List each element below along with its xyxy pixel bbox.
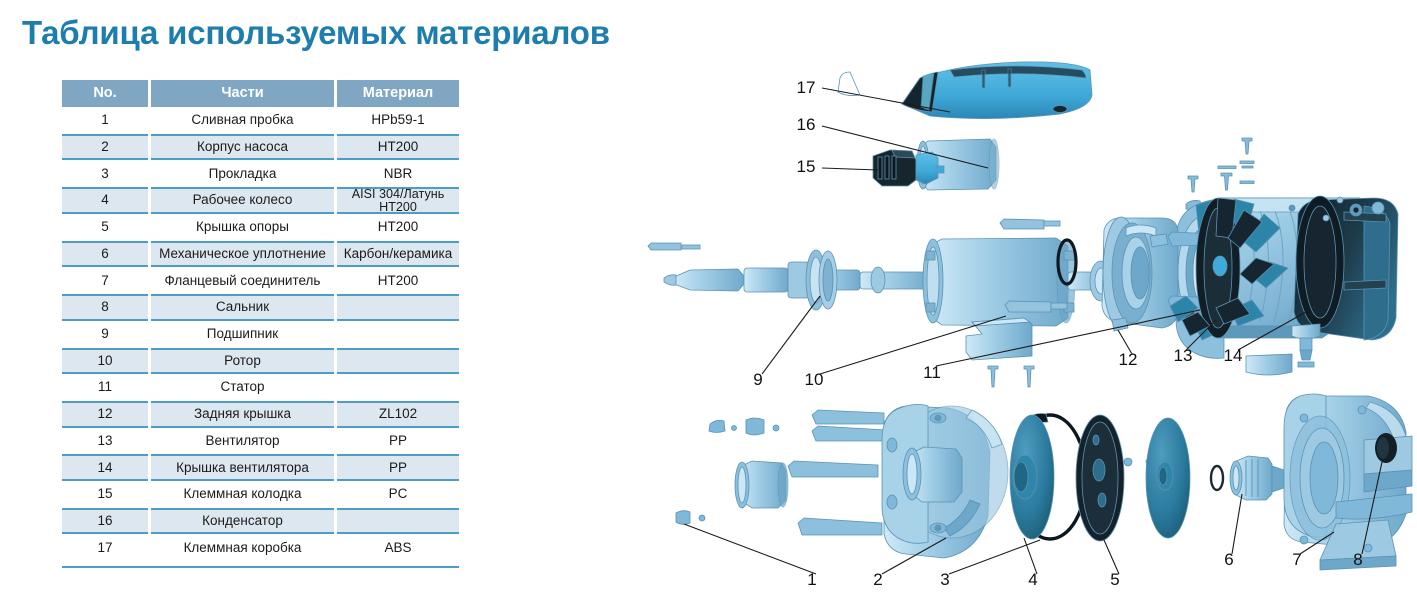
part-terminal-block — [873, 150, 944, 186]
part-fan-cover — [1294, 196, 1398, 340]
part-bolts — [788, 410, 886, 535]
cell-part: Крышка опоры — [151, 214, 334, 241]
callout-label-14: 14 — [1224, 346, 1243, 365]
table-body: 1Сливная пробкаHPb59-12Корпус насосаHT20… — [62, 107, 459, 561]
cell-no: 11 — [62, 374, 148, 401]
table-row: 13ВентиляторPP — [62, 428, 459, 455]
part-sleeve — [735, 461, 788, 508]
table-row: 1Сливная пробкаHPb59-1 — [62, 107, 459, 134]
cell-material — [337, 348, 459, 375]
page-root: Таблица используемых материалов No. Част… — [0, 0, 1417, 601]
table-row: 11Статор — [62, 374, 459, 401]
callout-label-11: 11 — [923, 363, 941, 382]
callout-label-3: 3 — [940, 570, 949, 589]
cell-material: NBR — [337, 160, 459, 187]
cell-part: Клеммная коробка — [151, 534, 334, 561]
cell-part: Сальник — [151, 294, 334, 321]
cell-material-line2: HT200 — [379, 201, 417, 214]
callout-label-12: 12 — [1119, 350, 1138, 369]
cell-no: 2 — [62, 134, 148, 161]
table-row: 10Ротор — [62, 348, 459, 375]
cell-part: Вентилятор — [151, 428, 334, 455]
callout-label-4: 4 — [1028, 570, 1037, 589]
cell-no: 9 — [62, 321, 148, 348]
part-terminal-box — [902, 62, 1092, 119]
cell-part: Корпус насоса — [151, 134, 334, 161]
cell-material: HT200 — [337, 267, 459, 294]
table-row: 4Рабочее колесоAISI 304/ЛатуньHT200 — [62, 187, 459, 214]
cell-no: 13 — [62, 428, 148, 455]
cell-no: 5 — [62, 214, 148, 241]
callout-label-5: 5 — [1110, 570, 1119, 589]
cell-part: Крышка вентилятора — [151, 454, 334, 481]
callout-label-1: 1 — [807, 570, 816, 589]
column-header-part: Части — [151, 80, 334, 107]
table-header-row: No. Части Материал — [62, 80, 459, 107]
part-screw-pair-bottom — [988, 366, 1034, 387]
cell-part: Механическое уплотнение — [151, 241, 334, 268]
table-row: 12Задняя крышкаZL102 — [62, 401, 459, 428]
cell-part: Рабочее колесо — [151, 187, 334, 214]
cell-no: 15 — [62, 481, 148, 508]
callout-label-16: 16 — [797, 115, 816, 134]
callout-label-8: 8 — [1353, 550, 1362, 569]
column-header-no: No. — [62, 80, 148, 107]
table-row: 2Корпус насосаHT200 — [62, 134, 459, 161]
cell-material: PP — [337, 454, 459, 481]
cell-no: 4 — [62, 187, 148, 214]
table-row: 6Механическое уплотнениеКарбон/керамика — [62, 241, 459, 268]
table-row: 9Подшипник — [62, 321, 459, 348]
cell-material: ZL102 — [337, 401, 459, 428]
part-seal-disc — [1076, 415, 1124, 541]
cell-part: Сливная пробка — [151, 107, 334, 134]
cell-part: Ротор — [151, 348, 334, 375]
cell-material: ABS — [337, 534, 459, 561]
part-bearing — [806, 250, 837, 310]
callout-label-2: 2 — [873, 570, 882, 589]
part-support-disc — [1146, 418, 1190, 538]
cell-material — [337, 508, 459, 535]
cell-material — [337, 321, 459, 348]
part-shaft — [664, 250, 930, 310]
column-header-material: Материал — [337, 80, 459, 107]
part-rear-cover — [1102, 217, 1178, 331]
callout-label-13: 13 — [1174, 346, 1193, 365]
part-impeller-disc-4 — [1010, 415, 1054, 539]
cell-material — [337, 374, 459, 401]
table-row: 8Сальник — [62, 294, 459, 321]
cell-no: 7 — [62, 267, 148, 294]
cell-part: Конденсатор — [151, 508, 334, 535]
callout-label-15: 15 — [797, 157, 816, 176]
cell-no: 1 — [62, 107, 148, 134]
cell-material: HT200 — [337, 214, 459, 241]
table-row: 3ПрокладкаNBR — [62, 160, 459, 187]
callout-label-9: 9 — [753, 370, 762, 389]
cell-material: HPb59-1 — [337, 107, 459, 134]
cell-part: Задняя крышка — [151, 401, 334, 428]
exploded-view-diagram: 1234567891011121314151617 — [620, 0, 1417, 601]
cell-part: Клеммная колодка — [151, 481, 334, 508]
table-bottom-rule — [62, 566, 459, 568]
cell-no: 16 — [62, 508, 148, 535]
part-stator — [838, 72, 1360, 358]
callout-label-6: 6 — [1224, 550, 1233, 569]
cell-no: 8 — [62, 294, 148, 321]
table-row: 17Клеммная коробкаABS — [62, 534, 459, 561]
part-pump-body — [882, 404, 1008, 558]
page-title: Таблица используемых материалов — [22, 14, 610, 52]
part-bracket — [966, 318, 1032, 360]
cell-material: Карбон/керамика — [337, 241, 459, 268]
callout-label-10: 10 — [805, 370, 824, 389]
cell-part: Фланцевый соединитель — [151, 267, 334, 294]
callout-label-17: 17 — [797, 78, 816, 97]
cell-no: 14 — [62, 454, 148, 481]
part-flange-connector — [1284, 394, 1412, 570]
table-row: 15Клеммная колодкаPC — [62, 481, 459, 508]
cell-no: 10 — [62, 348, 148, 375]
cell-material: PP — [337, 428, 459, 455]
cell-no: 6 — [62, 241, 148, 268]
part-mechanical-seal — [1211, 456, 1284, 500]
cell-material: AISI 304/ЛатуньHT200 — [337, 187, 459, 214]
cell-material — [337, 294, 459, 321]
cell-part: Статор — [151, 374, 334, 401]
callout-label-7: 7 — [1292, 550, 1301, 569]
table-row: 7Фланцевый соединительHT200 — [62, 267, 459, 294]
materials-table: No. Части Материал 1Сливная пробкаHPb59-… — [62, 80, 459, 561]
table-row: 16Конденсатор — [62, 508, 459, 535]
table-row: 14Крышка вентилятораPP — [62, 454, 459, 481]
cell-no: 3 — [62, 160, 148, 187]
part-seal-packing — [1375, 433, 1397, 463]
table-row: 5Крышка опорыHT200 — [62, 214, 459, 241]
cell-material-line1: AISI 304/Латунь — [352, 188, 445, 201]
cell-material: HT200 — [337, 134, 459, 161]
cell-part: Прокладка — [151, 160, 334, 187]
cell-no: 17 — [62, 534, 148, 561]
cell-no: 12 — [62, 401, 148, 428]
cell-material: PC — [337, 481, 459, 508]
cell-part: Подшипник — [151, 321, 334, 348]
